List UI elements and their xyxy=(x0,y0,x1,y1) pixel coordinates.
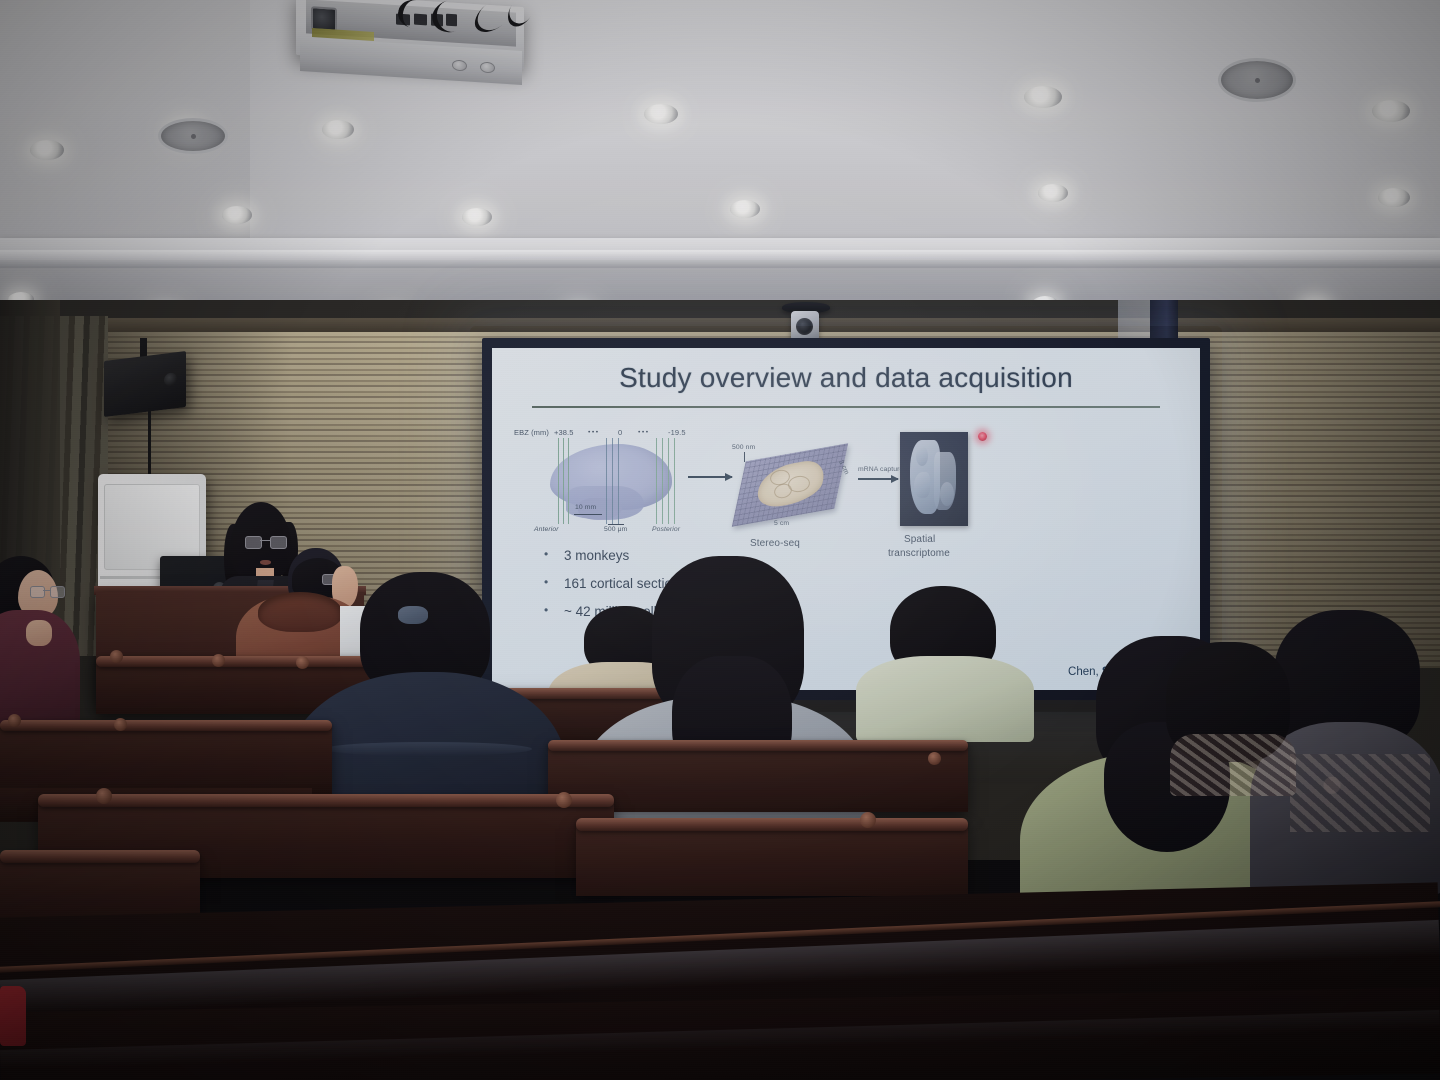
downlight-icon xyxy=(1372,100,1410,122)
glasses-lens-left xyxy=(30,586,45,598)
bench-armrest-post xyxy=(8,714,21,727)
bench-armrest-post xyxy=(110,650,123,663)
bench-top-rail xyxy=(0,720,332,731)
flow-arrow-2-icon xyxy=(858,478,898,480)
slide-title: Study overview and data acquisition xyxy=(492,362,1200,394)
section-plane-line xyxy=(612,438,613,524)
section-plane-line xyxy=(568,438,569,524)
section-plane-line xyxy=(674,438,675,524)
section-plane-line xyxy=(563,438,564,524)
jacket-seam xyxy=(324,742,532,756)
scale-bar-minor xyxy=(608,524,624,525)
downlight-icon xyxy=(1378,188,1410,207)
glasses-bridge xyxy=(43,590,50,591)
presenter-glasses-icon xyxy=(245,536,285,547)
person-jacket xyxy=(856,656,1034,742)
red-cup-object xyxy=(0,986,26,1046)
section-plane-line xyxy=(558,438,559,524)
chip-resolution-tick xyxy=(744,452,745,462)
lecture-hall-photo: Study overview and data acquisition EBZ … xyxy=(0,0,1440,1080)
bench-armrest-post xyxy=(114,718,127,731)
downlight-icon xyxy=(1038,184,1068,202)
brain-ellipsis-left: ••• xyxy=(588,429,600,436)
brain-tick-anterior: +38.5 xyxy=(554,428,573,437)
mrna-capture-label: mRNA capture xyxy=(858,466,903,473)
ceiling-speaker-icon xyxy=(1218,58,1296,102)
bench-armrest-post xyxy=(212,654,225,667)
brain-ellipsis-right: ••• xyxy=(638,429,650,436)
glasses-bridge xyxy=(260,540,270,541)
downlight-icon xyxy=(1024,86,1062,108)
output-caption-line1: Spatial xyxy=(904,534,935,545)
section-plane-line xyxy=(606,438,607,524)
section-plane-line xyxy=(662,438,663,524)
audience-member xyxy=(856,586,1036,736)
downlight-icon xyxy=(730,200,760,218)
chip-resolution-label: 500 nm xyxy=(732,444,755,451)
bench-armrest-post xyxy=(96,788,112,804)
scale-bar-major xyxy=(574,514,602,515)
audience-member xyxy=(1142,642,1312,822)
projector-adjust-knob[interactable] xyxy=(480,62,495,74)
downlight-icon xyxy=(644,104,678,124)
brain-tick-posterior: -19.5 xyxy=(668,428,686,437)
downlight-icon xyxy=(462,208,492,226)
spatial-transcriptome-micrograph xyxy=(900,432,968,526)
brain-tick-zero: 0 xyxy=(618,428,622,437)
bench-top-rail xyxy=(0,850,200,863)
wall-pa-speaker-icon xyxy=(104,351,186,417)
bench-armrest-post xyxy=(556,792,572,808)
chip-width-label: 5 cm xyxy=(774,520,789,527)
bench-backrest[interactable] xyxy=(576,824,968,896)
brain-label-anterior: Anterior xyxy=(534,526,559,533)
downlight-icon xyxy=(222,206,252,224)
scale-label-major: 10 mm xyxy=(575,504,596,511)
person-hand xyxy=(26,620,52,646)
bench-backrest[interactable] xyxy=(0,724,332,794)
projector-adjust-knob[interactable] xyxy=(452,60,467,72)
bench-top-rail xyxy=(548,740,968,751)
ceiling-speaker-icon xyxy=(158,118,228,154)
flow-arrow-1-icon xyxy=(688,476,732,478)
brain-axis-label: EBZ (mm) xyxy=(514,428,549,437)
bench-top-rail xyxy=(576,818,968,831)
laser-pointer-dot xyxy=(978,432,987,441)
hair-clip-icon xyxy=(398,606,428,624)
audience-member xyxy=(0,556,86,736)
bench-armrest-post xyxy=(928,752,941,765)
downlight-icon xyxy=(30,140,64,160)
scale-label-minor: 500 μm xyxy=(604,526,627,533)
section-plane-line xyxy=(668,438,669,524)
downlight-icon xyxy=(322,120,354,139)
soffit-lip xyxy=(0,250,1440,260)
section-plane-line xyxy=(618,438,619,524)
glasses-lens-right xyxy=(50,586,65,598)
person-patterned-garment xyxy=(1170,734,1296,796)
output-caption-line2: transcriptome xyxy=(888,548,950,559)
bench-top-rail xyxy=(38,794,614,807)
person-glasses-icon xyxy=(30,586,64,596)
slide-title-underline xyxy=(532,406,1160,408)
section-plane-line xyxy=(656,438,657,524)
chip-caption: Stereo-seq xyxy=(750,538,800,549)
camera-lens-icon xyxy=(796,318,813,335)
brain-label-posterior: Posterior xyxy=(652,526,680,533)
bench-armrest-post xyxy=(860,812,876,828)
